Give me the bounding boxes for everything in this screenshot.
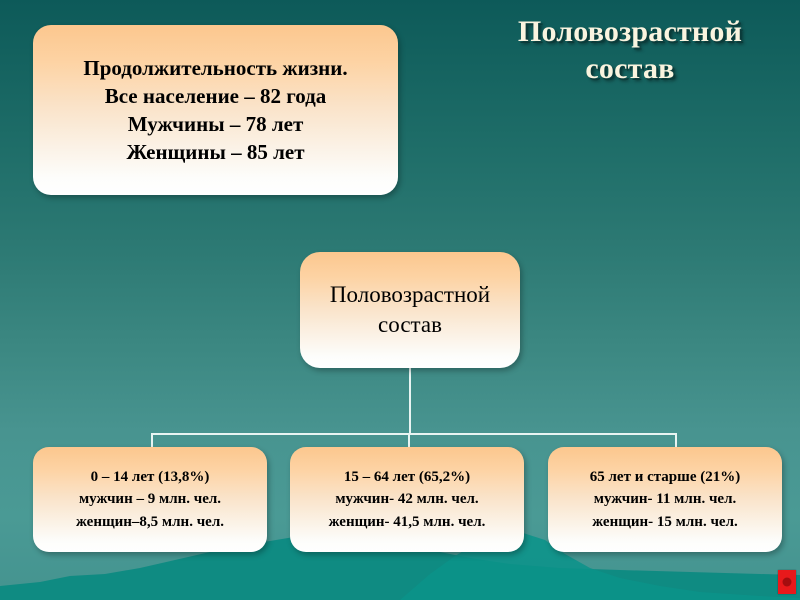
life-expectancy-line-4: Женщины – 85 лет: [126, 138, 304, 166]
age-group-0-14-line-3: женщин–8,5 млн. чел.: [76, 511, 224, 534]
age-group-65-plus-line-1: 65 лет и старше (21%): [590, 466, 740, 489]
age-group-65-plus-line-2: мужчин- 11 млн. чел.: [594, 488, 737, 511]
red-marker-badge: [778, 570, 796, 594]
red-marker-dot: [783, 578, 792, 587]
life-expectancy-line-1: Продолжительность жизни.: [83, 54, 347, 82]
age-group-card-0-14: 0 – 14 лет (13,8%) мужчин – 9 млн. чел. …: [33, 447, 267, 552]
slide-title-line-2: состав: [470, 51, 790, 88]
slide-title: Половозрастной состав: [470, 14, 790, 87]
slide-canvas: Половозрастной состав Продолжительность …: [0, 0, 800, 600]
age-group-15-64-line-3: женщин- 41,5 млн. чел.: [329, 511, 486, 534]
age-group-15-64-line-1: 15 – 64 лет (65,2%): [344, 466, 470, 489]
root-node-line-2: состав: [378, 310, 442, 340]
slide-title-line-1: Половозрастной: [470, 14, 790, 51]
life-expectancy-card: Продолжительность жизни. Все население –…: [33, 25, 398, 195]
age-group-0-14-line-1: 0 – 14 лет (13,8%): [91, 466, 210, 489]
connector-horizontal-bar: [151, 433, 677, 435]
age-group-0-14-line-2: мужчин – 9 млн. чел.: [79, 488, 221, 511]
connector-drop-group-1: [151, 433, 153, 448]
age-group-card-65-plus: 65 лет и старше (21%) мужчин- 11 млн. че…: [548, 447, 782, 552]
life-expectancy-line-3: Мужчины – 78 лет: [128, 110, 304, 138]
connector-drop-group-2: [408, 433, 410, 448]
age-group-15-64-line-2: мужчин- 42 млн. чел.: [335, 488, 478, 511]
age-group-65-plus-line-3: женщин- 15 млн. чел.: [592, 511, 737, 534]
life-expectancy-line-2: Все население – 82 года: [105, 82, 327, 110]
connector-root-vertical: [409, 368, 411, 434]
root-node-line-1: Половозрастной: [330, 280, 490, 310]
root-node-card: Половозрастной состав: [300, 252, 520, 368]
connector-drop-group-3: [675, 433, 677, 448]
age-group-card-15-64: 15 – 64 лет (65,2%) мужчин- 42 млн. чел.…: [290, 447, 524, 552]
